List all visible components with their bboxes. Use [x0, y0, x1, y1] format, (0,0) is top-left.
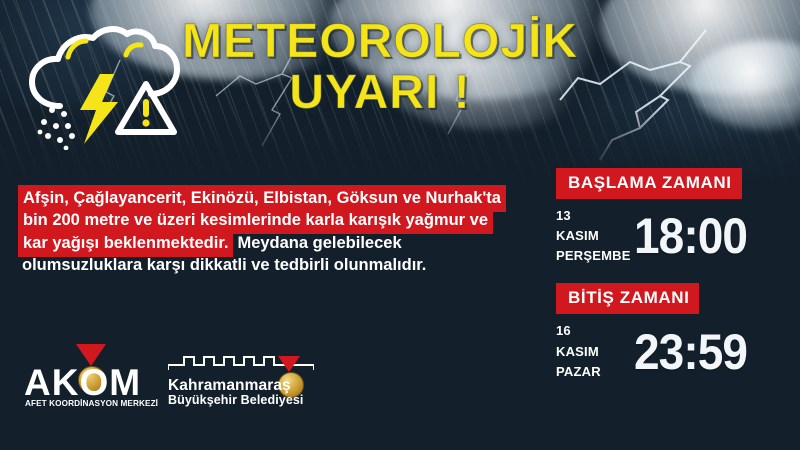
start-time-header: BAŞLAMA ZAMANI [556, 168, 742, 199]
warning-line-plain: olumsuzluklara karşı dikkatli ve tedbirl… [18, 252, 428, 279]
meteorological-warning-poster: METEOROLOJİK UYARI ! Afşin, Çağlayanceri… [0, 0, 800, 450]
end-date: 16 KASIM PAZAR [556, 321, 634, 381]
end-day: 16 [556, 321, 634, 341]
warning-line: bin 200 metre ve üzeri kesimlerinde karl… [18, 212, 538, 229]
lightning-bolt-icon [80, 74, 118, 144]
municipality-line-2: Büyükşehir Belediyesi [168, 394, 304, 407]
start-month: KASIM [556, 226, 634, 246]
end-time-block: BİTİŞ ZAMANI 16 KASIM PAZAR 23:59 [556, 283, 792, 381]
akom-wordmark: AKOM [24, 364, 152, 401]
cloud-accent [126, 45, 141, 55]
panel-spacer [556, 266, 792, 283]
warning-line: Afşin, Çağlayancerit, Ekinözü, Elbistan,… [18, 190, 538, 207]
start-time-value: 18:00 [634, 211, 747, 261]
start-time-body: 13 KASIM PERŞEMBE 18:00 [556, 206, 792, 266]
warning-line: kar yağışı beklenmektedir.Meydana gelebi… [18, 235, 538, 252]
warning-line: olumsuzluklara karşı dikkatli ve tedbirl… [18, 257, 538, 274]
poster-title: METEOROLOJİK UYARI ! [170, 18, 590, 116]
end-time-value: 23:59 [634, 327, 747, 377]
end-month: KASIM [556, 342, 634, 362]
municipality-line-1: Kahramanmaraş [168, 378, 291, 394]
start-time-block: BAŞLAMA ZAMANI 13 KASIM PERŞEMBE 18:00 [556, 168, 792, 266]
exclamation-dot-icon [142, 119, 149, 126]
akom-subtitle: AFET KOORDİNASYON MERKEZİ [25, 399, 157, 408]
end-time-body: 16 KASIM PAZAR 23:59 [556, 321, 792, 381]
red-ribbon-icon [278, 356, 300, 372]
start-weekday: PERŞEMBE [556, 246, 634, 266]
title-line-1: METEOROLOJİK [170, 18, 590, 65]
akom-logo: AKOM AFET KOORDİNASYON MERKEZİ [24, 342, 152, 414]
precipitation-dots-icon [38, 107, 75, 150]
warning-text-block: Afşin, Çağlayancerit, Ekinözü, Elbistan,… [18, 190, 538, 279]
title-line-2: UYARI ! [170, 69, 590, 116]
thunderstorm-snow-warning-icon [22, 22, 182, 150]
start-date: 13 KASIM PERŞEMBE [556, 206, 634, 266]
start-day: 13 [556, 206, 634, 226]
time-panel: BAŞLAMA ZAMANI 13 KASIM PERŞEMBE 18:00 B… [556, 168, 792, 382]
municipality-logo: Kahramanmaraş Büyükşehir Belediyesi [166, 342, 316, 414]
end-time-header: BİTİŞ ZAMANI [556, 283, 699, 314]
logo-row: AKOM AFET KOORDİNASYON MERKEZİ Kahramanm… [24, 342, 316, 414]
end-weekday: PAZAR [556, 362, 634, 382]
exclamation-mark-icon [143, 99, 149, 117]
